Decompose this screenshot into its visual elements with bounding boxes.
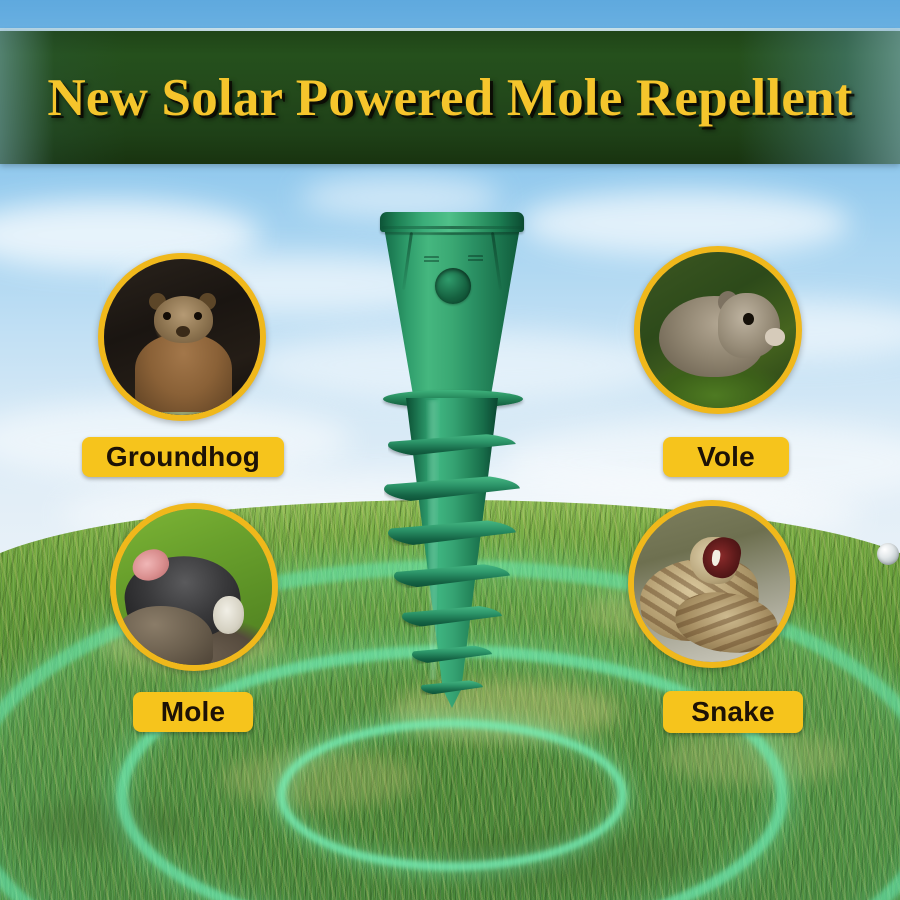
- pest-label-snake: Snake: [663, 691, 803, 733]
- mole-photo: [116, 509, 272, 665]
- vole-eye: [743, 313, 754, 325]
- groundhog-body: [135, 334, 232, 412]
- cloud-icon: [520, 190, 850, 256]
- pest-label-vole: Vole: [663, 437, 789, 477]
- vole-snout: [765, 328, 785, 345]
- grass-patch: [660, 730, 850, 785]
- grass-patch: [20, 800, 190, 850]
- groundhog-eye-left: [163, 312, 171, 320]
- grass-patch: [390, 680, 620, 742]
- pest-label-groundhog: Groundhog: [82, 437, 284, 477]
- snake-coil: [672, 588, 781, 658]
- grass-patch: [440, 830, 700, 888]
- page-title: New Solar Powered Mole Repellent: [0, 31, 900, 164]
- snake-photo: [634, 506, 790, 662]
- cloud-icon: [250, 330, 670, 400]
- groundhog-photo-circle: [98, 253, 266, 421]
- vole-head: [718, 293, 780, 359]
- product-ad-image: Groundhog Vole Mole: [0, 0, 900, 900]
- grass-patch: [220, 750, 420, 808]
- snake-photo-circle: [628, 500, 796, 668]
- pest-label-mole: Mole: [133, 692, 253, 732]
- groundhog-nose: [176, 326, 190, 337]
- vole-photo: [640, 252, 796, 408]
- cloud-icon: [300, 175, 500, 219]
- mole-photo-circle: [110, 503, 278, 671]
- vole-photo-circle: [634, 246, 802, 414]
- groundhog-photo: [104, 259, 260, 415]
- mole-paw: [213, 596, 244, 633]
